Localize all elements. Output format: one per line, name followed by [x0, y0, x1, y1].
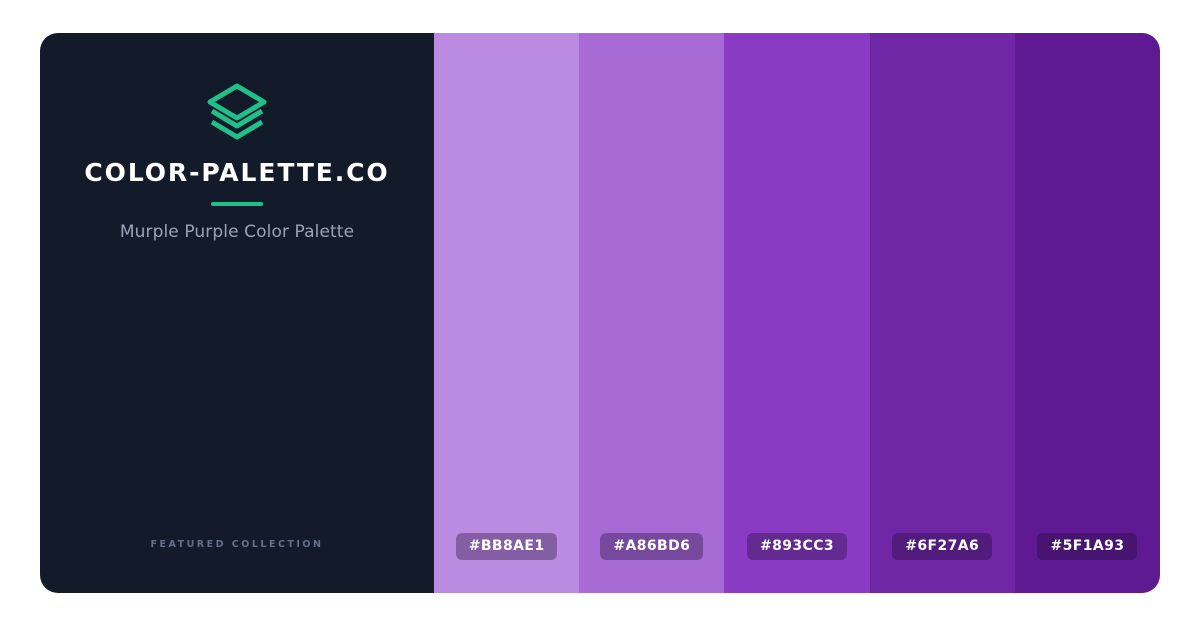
color-swatch[interactable]: #6F27A6: [870, 33, 1015, 593]
color-swatch[interactable]: #A86BD6: [579, 33, 724, 593]
swatch-hex-badge[interactable]: #5F1A93: [1037, 533, 1137, 560]
swatch-strip: #BB8AE1 #A86BD6 #893CC3 #6F27A6 #5F1A93: [434, 33, 1160, 593]
swatch-hex-badge[interactable]: #6F27A6: [892, 533, 992, 560]
featured-collection-label: FEATURED COLLECTION: [40, 539, 434, 550]
palette-subtitle: Murple Purple Color Palette: [120, 222, 354, 242]
page-canvas: COLOR-PALETTE.CO Murple Purple Color Pal…: [0, 0, 1200, 630]
swatch-hex-badge[interactable]: #893CC3: [747, 533, 847, 560]
color-swatch[interactable]: #893CC3: [724, 33, 869, 593]
layers-icon: [206, 80, 268, 142]
swatch-hex-badge[interactable]: #BB8AE1: [456, 533, 558, 560]
palette-card: COLOR-PALETTE.CO Murple Purple Color Pal…: [40, 33, 1160, 593]
page-title: COLOR-PALETTE.CO: [84, 160, 389, 185]
brand-panel: COLOR-PALETTE.CO Murple Purple Color Pal…: [40, 33, 434, 593]
title-divider: [211, 202, 263, 206]
swatch-hex-badge[interactable]: #A86BD6: [600, 533, 703, 560]
color-swatch[interactable]: #5F1A93: [1015, 33, 1160, 593]
color-swatch[interactable]: #BB8AE1: [434, 33, 579, 593]
